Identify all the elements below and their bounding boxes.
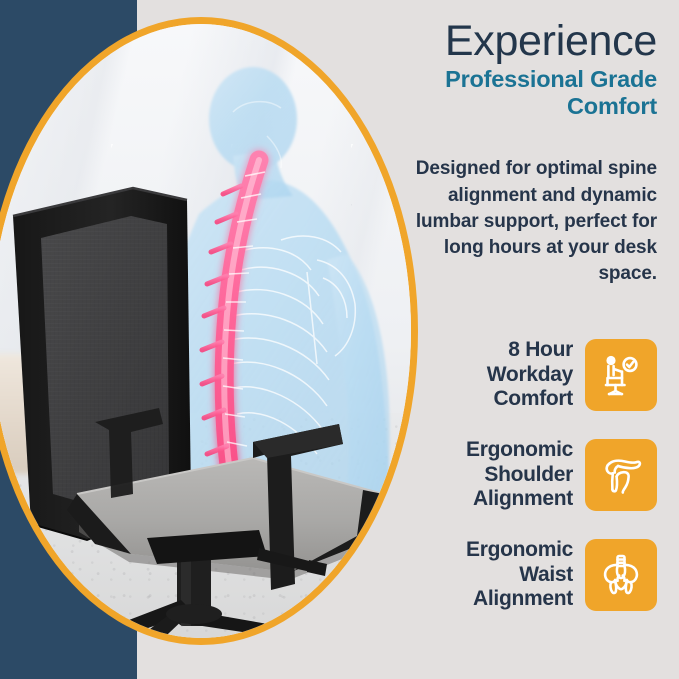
product-photo-medallion xyxy=(0,17,418,645)
copy-block: Experience Professional Grade Comfort De… xyxy=(405,0,657,288)
seated-person-check-icon xyxy=(585,339,657,411)
feature-label: Ergonomic Waist Alignment xyxy=(399,538,573,611)
feature-item-workday-comfort: 8 Hour Workday Comfort xyxy=(399,333,657,417)
feature-item-waist-alignment: Ergonomic Waist Alignment xyxy=(399,533,657,617)
headline-secondary: Professional Grade Comfort xyxy=(405,66,657,120)
product-photo xyxy=(0,24,411,638)
headline-primary: Experience xyxy=(405,0,657,64)
pelvis-bone-icon xyxy=(585,539,657,611)
feature-label: Ergonomic Shoulder Alignment xyxy=(399,438,573,511)
feature-label: 8 Hour Workday Comfort xyxy=(399,338,573,411)
office-chair xyxy=(0,24,411,638)
description-paragraph: Designed for optimal spine alignment and… xyxy=(405,120,657,287)
product-feature-poster: Experience Professional Grade Comfort De… xyxy=(0,0,679,679)
feature-item-shoulder-alignment: Ergonomic Shoulder Alignment xyxy=(399,433,657,517)
feature-list: 8 Hour Workday Comfort xyxy=(399,333,657,617)
shoulder-bone-icon xyxy=(585,439,657,511)
